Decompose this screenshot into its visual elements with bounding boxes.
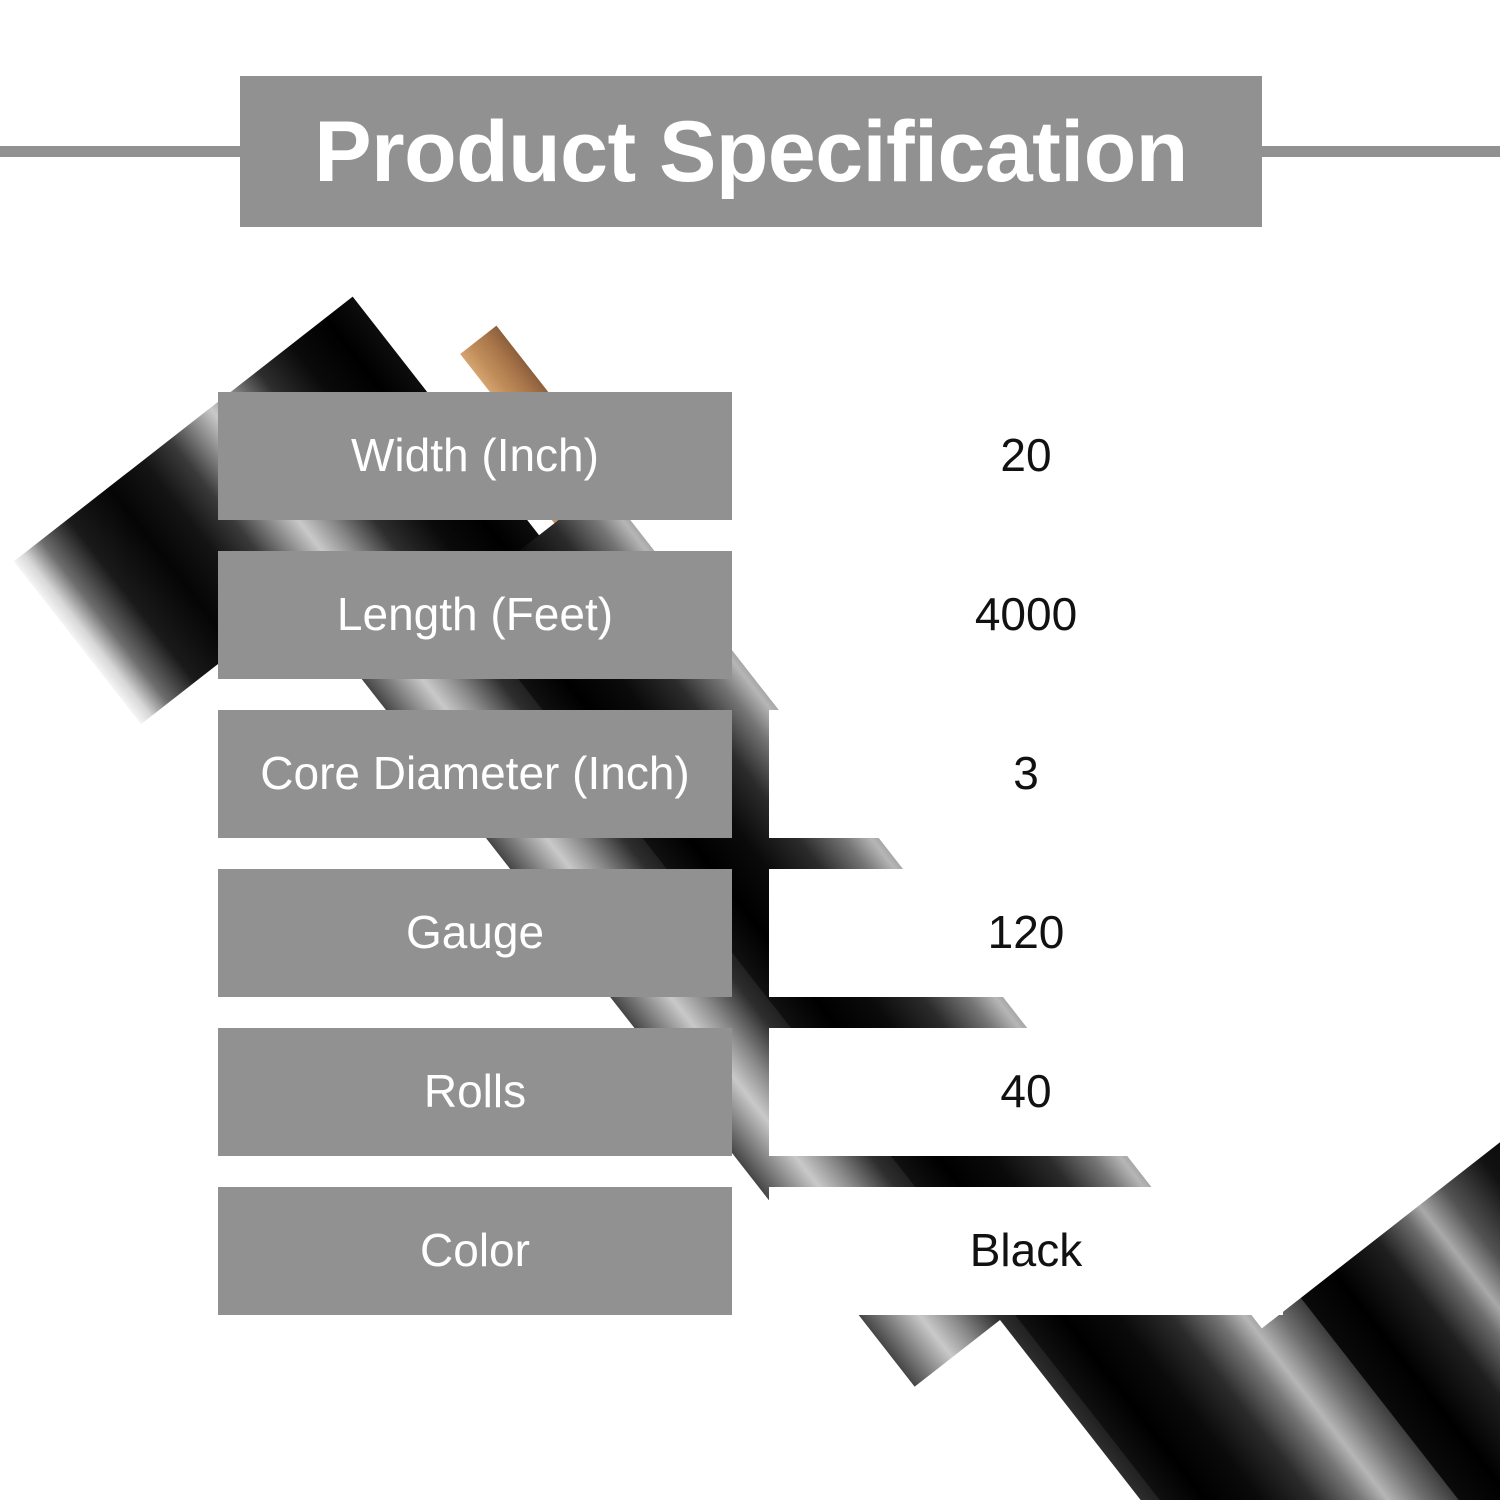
spec-value-gauge: 120 [769,869,1283,997]
spec-value-core-diameter: 3 [769,710,1283,838]
spec-value-length: 4000 [769,551,1283,679]
spec-label-width: Width (Inch) [218,392,732,520]
title-banner: Product Specification [240,76,1262,227]
page-title: Product Specification [314,109,1188,195]
specification-table: Width (Inch) 20 Length (Feet) 4000 Core … [0,392,1500,1346]
spec-label-gauge: Gauge [218,869,732,997]
spec-label-color: Color [218,1187,732,1315]
table-row: Color Black [0,1187,1500,1315]
spec-label-rolls: Rolls [218,1028,732,1156]
spec-value-width: 20 [769,392,1283,520]
product-specification-graphic: Product Specification Width (Inch) 20 Le… [0,0,1500,1500]
spec-value-color: Black [769,1187,1283,1315]
table-row: Width (Inch) 20 [0,392,1500,520]
table-row: Length (Feet) 4000 [0,551,1500,679]
spec-value-rolls: 40 [769,1028,1283,1156]
table-row: Rolls 40 [0,1028,1500,1156]
table-row: Core Diameter (Inch) 3 [0,710,1500,838]
table-row: Gauge 120 [0,869,1500,997]
spec-label-core-diameter: Core Diameter (Inch) [218,710,732,838]
spec-label-length: Length (Feet) [218,551,732,679]
